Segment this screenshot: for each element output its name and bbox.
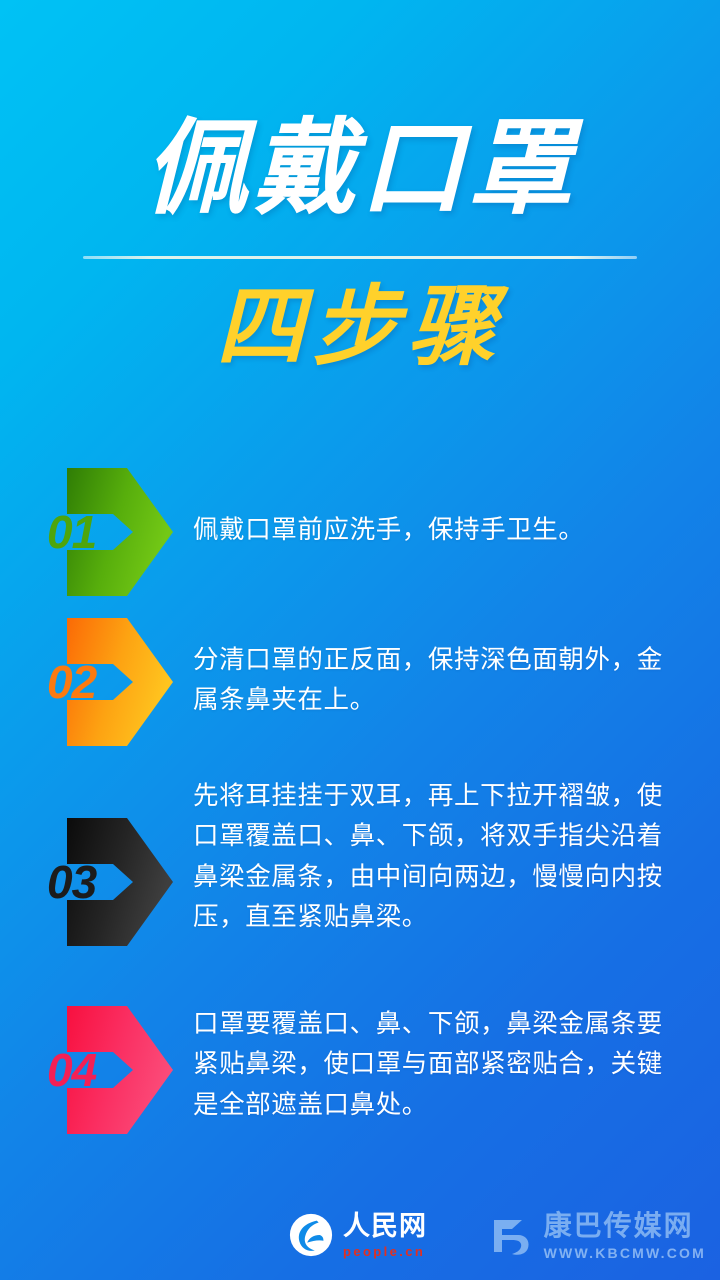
- chevron-badge-icon: [55, 818, 173, 946]
- watermark-url: WWW.KBCMW.COM: [544, 1246, 706, 1260]
- kbcmw-logo-icon: [488, 1212, 536, 1260]
- step-text-01: 佩戴口罩前应洗手，保持手卫生。: [193, 468, 682, 550]
- people-cn-logo: 人民网 people.cn: [288, 1212, 427, 1258]
- page-title: 佩戴口罩: [0, 116, 720, 222]
- kbcmw-watermark: 康巴传媒网 WWW.KBCMW.COM: [488, 1212, 706, 1260]
- chevron-badge-icon: [55, 618, 173, 746]
- step-badge-04: 04: [55, 1006, 173, 1134]
- step-badge-01: 01: [55, 468, 173, 596]
- people-swirl-icon: [288, 1212, 334, 1258]
- poster-header: 佩戴口罩 四步骤: [0, 0, 720, 373]
- steps-list: 01 佩戴口罩前应洗手，保持手卫生。 02: [0, 468, 720, 1134]
- brand-name-cn: 人民网: [343, 1213, 427, 1240]
- step-item-02: 02 分清口罩的正反面，保持深色面朝外，金属条鼻夹在上。: [0, 618, 720, 746]
- chevron-badge-icon: [55, 468, 173, 596]
- kbcmw-wordmark: 康巴传媒网 WWW.KBCMW.COM: [544, 1212, 706, 1260]
- page-subtitle: 四步骤: [0, 281, 720, 373]
- title-divider: [83, 256, 637, 259]
- step-item-03: 03 先将耳挂挂于双耳，再上下拉开褶皱，使口罩覆盖口、鼻、下颌，将双手指尖沿着鼻…: [0, 776, 720, 946]
- step-text-02: 分清口罩的正反面，保持深色面朝外，金属条鼻夹在上。: [193, 618, 682, 721]
- watermark-name-cn: 康巴传媒网: [544, 1212, 694, 1240]
- step-badge-03: 03: [55, 818, 173, 946]
- step-item-04: 04 口罩要覆盖口、鼻、下颌，鼻梁金属条要紧贴鼻梁，使口罩与面部紧密贴合，关键是…: [0, 992, 720, 1134]
- step-badge-02: 02: [55, 618, 173, 746]
- poster-root: 佩戴口罩 四步骤 01 佩戴口罩前应: [0, 0, 720, 1280]
- poster-footer: 人民网 people.cn 康巴传媒网 WWW.KBCMW.COM: [0, 1188, 720, 1280]
- chevron-badge-icon: [55, 1006, 173, 1134]
- step-text-04: 口罩要覆盖口、鼻、下颌，鼻梁金属条要紧贴鼻梁，使口罩与面部紧密贴合，关键是全部遮…: [193, 992, 682, 1125]
- brand-name-en: people.cn: [343, 1245, 425, 1258]
- step-item-01: 01 佩戴口罩前应洗手，保持手卫生。: [0, 468, 720, 596]
- people-cn-wordmark: 人民网 people.cn: [343, 1213, 427, 1258]
- step-text-03: 先将耳挂挂于双耳，再上下拉开褶皱，使口罩覆盖口、鼻、下颌，将双手指尖沿着鼻梁金属…: [193, 776, 682, 937]
